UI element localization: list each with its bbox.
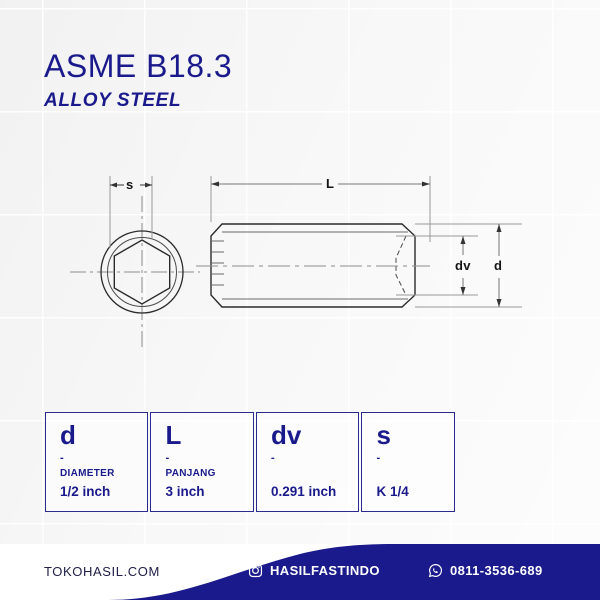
spec-value: 3 inch <box>165 485 252 499</box>
footer-whatsapp[interactable]: 0811-3536-689 <box>428 563 543 578</box>
spec-dash: - <box>60 453 147 464</box>
poster-canvas: ASME B18.3 ALLOY STEEL <box>0 0 600 600</box>
spec-symbol: dv <box>271 422 358 448</box>
dimension-label-s: s <box>126 178 134 191</box>
L-arrow-right <box>422 182 430 187</box>
spec-value: 0.291 inch <box>271 485 358 499</box>
dv-arrow-top <box>461 236 466 244</box>
L-arrow-left <box>211 182 219 187</box>
s-arrow-right <box>145 183 152 188</box>
spec-name <box>376 469 454 479</box>
spec-cell-d[interactable]: d - DIAMETER 1/2 inch <box>45 412 148 512</box>
s-arrow-left <box>110 183 117 188</box>
spec-symbol: L <box>165 422 252 448</box>
dimension-label-dv: dv <box>455 259 471 272</box>
whatsapp-icon <box>428 563 443 578</box>
spec-name: PANJANG <box>165 469 252 479</box>
spec-value: K 1/4 <box>376 485 454 499</box>
footer-website[interactable]: TOKOHASIL.COM <box>44 564 160 579</box>
spec-dash: - <box>271 453 358 464</box>
spec-cell-L[interactable]: L - PANJANG 3 inch <box>150 412 253 512</box>
footer-instagram[interactable]: HASILFASTINDO <box>248 563 380 578</box>
spec-symbol: d <box>60 422 147 448</box>
spec-dash: - <box>165 453 252 464</box>
spec-value: 1/2 inch <box>60 485 147 499</box>
spec-symbol: s <box>376 422 454 448</box>
spec-table: d - DIAMETER 1/2 inch L - PANJANG 3 inch… <box>45 412 455 512</box>
spec-cell-dv[interactable]: dv - 0.291 inch <box>256 412 359 512</box>
spec-cell-s[interactable]: s - K 1/4 <box>361 412 455 512</box>
d-arrow-top <box>497 224 502 232</box>
dimension-label-d: d <box>494 259 502 272</box>
spec-dash: - <box>376 453 454 464</box>
footer-bar: TOKOHASIL.COM HASILFASTINDO 0811-3536-68… <box>0 544 600 600</box>
dv-arrow-bottom <box>461 287 466 295</box>
whatsapp-number: 0811-3536-689 <box>450 563 543 578</box>
instagram-handle: HASILFASTINDO <box>270 563 380 578</box>
dimension-label-L: L <box>326 177 334 190</box>
instagram-icon <box>248 563 263 578</box>
d-arrow-bottom <box>497 299 502 307</box>
spec-name: DIAMETER <box>60 469 147 479</box>
spec-name <box>271 469 358 479</box>
